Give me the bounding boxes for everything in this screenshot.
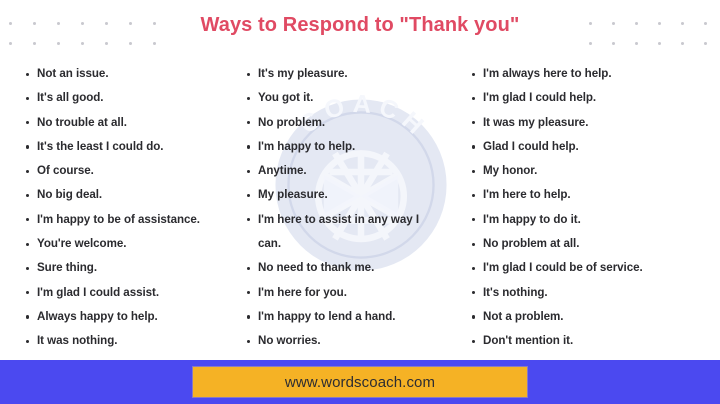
decor-dot xyxy=(129,42,132,45)
list-item: No need to thank me. xyxy=(247,256,445,280)
list-item: No big deal. xyxy=(26,183,222,207)
decor-dot xyxy=(153,42,156,45)
list-item: My honor. xyxy=(472,159,720,183)
infographic-canvas: COACH Ways to Respond to "Thank you" Not… xyxy=(0,0,720,404)
decor-dot xyxy=(635,42,638,45)
list-item: I'm here to help. xyxy=(472,183,720,207)
website-url-label: www.wordscoach.com xyxy=(285,374,435,391)
list-item: It was nothing. xyxy=(26,329,222,353)
decor-dot xyxy=(681,42,684,45)
list-item: I'm happy to help. xyxy=(247,135,445,159)
list-item: I'm glad I could assist. xyxy=(26,281,222,305)
list-item: Don't mention it. xyxy=(472,329,720,353)
decor-dot xyxy=(33,42,36,45)
list-item: It's the least I could do. xyxy=(26,135,222,159)
decor-dot xyxy=(612,42,615,45)
list-item: I'm here for you. xyxy=(247,281,445,305)
list-item: Always happy to help. xyxy=(26,305,222,329)
list-item: I'm happy to lend a hand. xyxy=(247,305,445,329)
page-title: Ways to Respond to "Thank you" xyxy=(0,14,720,37)
list-item: Not an issue. xyxy=(26,62,222,86)
list-item: It's my pleasure. xyxy=(247,62,445,86)
list-item: It was my pleasure. xyxy=(472,111,720,135)
list-item: I'm here to assist in any way I can. xyxy=(247,208,445,257)
decor-dot xyxy=(589,42,592,45)
list-item: No trouble at all. xyxy=(26,111,222,135)
column-2: It's my pleasure.You got it.No problem.I… xyxy=(222,62,445,352)
list-item: Sure thing. xyxy=(26,256,222,280)
list-item: My pleasure. xyxy=(247,183,445,207)
phrase-columns: Not an issue.It's all good.No trouble at… xyxy=(0,62,720,352)
list-item: I'm happy to be of assistance. xyxy=(26,208,222,232)
phrase-list-1: Not an issue.It's all good.No trouble at… xyxy=(26,62,222,354)
phrase-list-2: It's my pleasure.You got it.No problem.I… xyxy=(247,62,445,354)
list-item: Not a problem. xyxy=(472,305,720,329)
list-item: You're welcome. xyxy=(26,232,222,256)
list-item: No worries. xyxy=(247,329,445,353)
list-item: I'm always here to help. xyxy=(472,62,720,86)
list-item: Glad I could help. xyxy=(472,135,720,159)
list-item: No problem. xyxy=(247,111,445,135)
list-item: Anytime. xyxy=(247,159,445,183)
phrase-list-3: I'm always here to help.I'm glad I could… xyxy=(472,62,720,354)
decor-dot xyxy=(57,42,60,45)
decor-dot xyxy=(658,42,661,45)
list-item: It's all good. xyxy=(26,86,222,110)
list-item: I'm happy to do it. xyxy=(472,208,720,232)
list-item: You got it. xyxy=(247,86,445,110)
column-3: I'm always here to help.I'm glad I could… xyxy=(445,62,720,352)
list-item: I'm glad I could help. xyxy=(472,86,720,110)
decor-dot xyxy=(704,42,707,45)
list-item: It's nothing. xyxy=(472,281,720,305)
decor-dot xyxy=(81,42,84,45)
decor-dot xyxy=(105,42,108,45)
list-item: No problem at all. xyxy=(472,232,720,256)
column-1: Not an issue.It's all good.No trouble at… xyxy=(0,62,222,352)
decor-dot xyxy=(9,42,12,45)
website-link-button[interactable]: www.wordscoach.com xyxy=(192,366,528,398)
list-item: Of course. xyxy=(26,159,222,183)
list-item: I'm glad I could be of service. xyxy=(472,256,720,280)
